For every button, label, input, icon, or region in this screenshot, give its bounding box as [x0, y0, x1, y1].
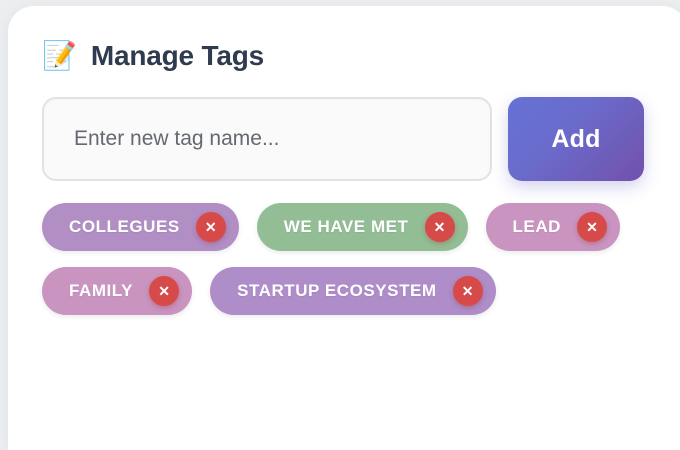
tag-chip: COLLEGUES✕: [42, 203, 239, 251]
remove-tag-icon[interactable]: ✕: [425, 212, 455, 242]
remove-tag-icon[interactable]: ✕: [577, 212, 607, 242]
tag-chip: STARTUP ECOSYSTEM✕: [210, 267, 496, 315]
tag-label: COLLEGUES: [69, 217, 180, 237]
tag-label: LEAD: [513, 217, 561, 237]
tag-chip: WE HAVE MET✕: [257, 203, 468, 251]
tag-label: FAMILY: [69, 281, 133, 301]
remove-tag-icon[interactable]: ✕: [149, 276, 179, 306]
page-header: 📝 Manage Tags: [42, 40, 680, 72]
remove-tag-icon[interactable]: ✕: [453, 276, 483, 306]
tag-label: STARTUP ECOSYSTEM: [237, 281, 437, 301]
tag-list: COLLEGUES✕WE HAVE MET✕LEAD✕FAMILY✕STARTU…: [42, 203, 652, 315]
tag-label: WE HAVE MET: [284, 217, 409, 237]
memo-pencil-icon: 📝: [42, 42, 77, 70]
tag-chip: FAMILY✕: [42, 267, 192, 315]
tag-chip: LEAD✕: [486, 203, 620, 251]
remove-tag-icon[interactable]: ✕: [196, 212, 226, 242]
add-tag-button[interactable]: Add: [508, 97, 644, 181]
card-inner: 📝 Manage Tags Add COLLEGUES✕WE HAVE MET✕…: [8, 6, 680, 450]
page-title: Manage Tags: [91, 40, 264, 72]
add-tag-form: Add: [42, 97, 644, 181]
manage-tags-card: 📝 Manage Tags Add COLLEGUES✕WE HAVE MET✕…: [8, 6, 680, 450]
new-tag-input[interactable]: [42, 97, 492, 181]
